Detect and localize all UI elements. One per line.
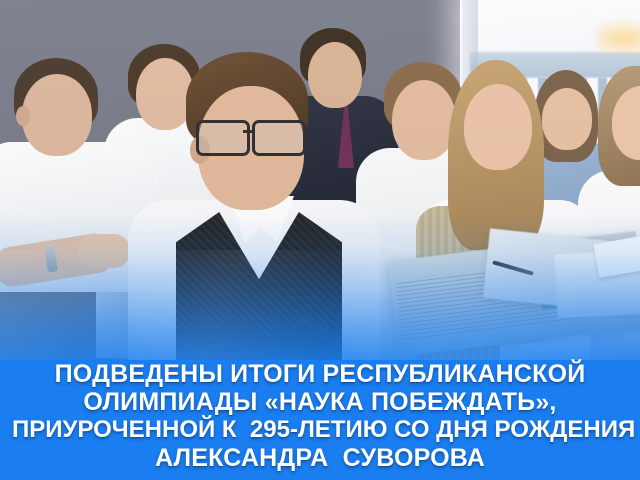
headline-line-4: АЛЕКСАНДРА СУВОРОВА [12, 444, 628, 472]
headline-line-2: ОЛИМПИАДЫ «НАУКА ПОБЕЖДАТЬ», [12, 388, 628, 416]
student-1-ear [16, 106, 30, 126]
headline-line-3: ПРИУРОЧЕННОЙ К 295-ЛЕТИЮ СО ДНЯ РОЖДЕНИЯ [12, 416, 628, 444]
window-sunlight-glare [596, 18, 640, 58]
headline-block: ПОДВЕДЕНЫ ИТОГИ РЕСПУБЛИКАНСКОЙ ОЛИМПИАД… [0, 360, 640, 472]
student-4-face [308, 42, 362, 108]
eyeglasses-lens-right [252, 120, 306, 156]
white-sheet [593, 236, 640, 278]
eyeglasses-icon [196, 120, 312, 150]
headline-line-1: ПОДВЕДЕНЫ ИТОГИ РЕСПУБЛИКАНСКОЙ [12, 360, 628, 388]
banner-image: ПОДВЕДЕНЫ ИТОГИ РЕСПУБЛИКАНСКОЙ ОЛИМПИАД… [0, 0, 640, 480]
student-6-face [464, 84, 532, 170]
eyeglasses-lens-left [196, 120, 250, 156]
student-5-face [392, 80, 456, 160]
student-1-hands [78, 234, 130, 268]
student-7-face [542, 88, 592, 150]
student-1-face [22, 74, 92, 156]
